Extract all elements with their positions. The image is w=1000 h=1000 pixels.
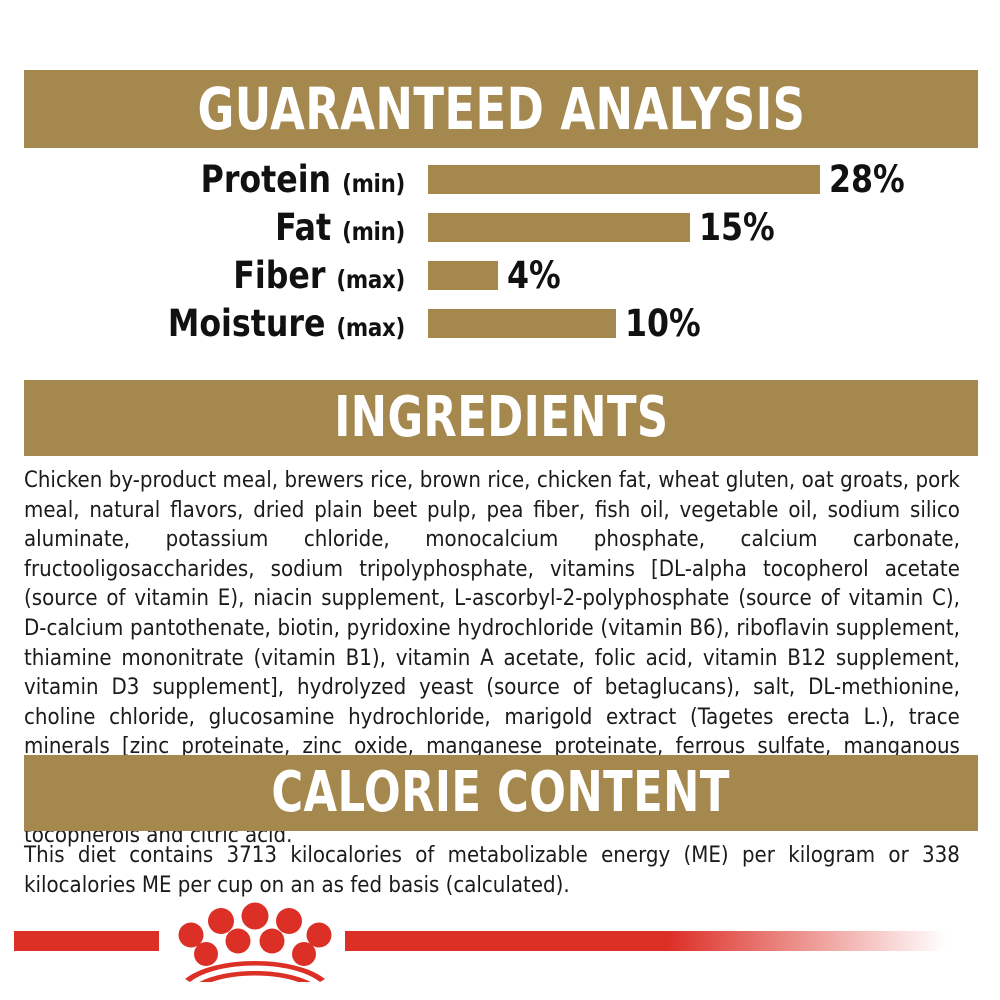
nutrient-qualifier: (min) <box>342 217 405 246</box>
royal-canin-crown-icon <box>160 900 350 982</box>
ingredients-title: INGREDIENTS <box>334 390 668 446</box>
bar-value-fiber: 4% <box>507 257 561 294</box>
ingredients-banner: INGREDIENTS <box>24 380 978 456</box>
nutrient-qualifier: (max) <box>336 265 405 294</box>
bar-wrap-moisture: 10% <box>428 305 705 342</box>
chart-row: Protein (min) 28% <box>0 155 1000 203</box>
bar-value-protein: 28% <box>829 161 905 198</box>
nutrient-label-protein: Protein (min) <box>20 161 405 198</box>
nutrient-label-fiber: Fiber (max) <box>20 257 405 294</box>
bar-wrap-fat: 15% <box>428 209 779 246</box>
nutrient-label-fat: Fat (min) <box>20 209 405 246</box>
guaranteed-analysis-banner: GUARANTEED ANALYSIS <box>24 70 978 148</box>
bar-wrap-fiber: 4% <box>428 257 564 294</box>
nutrient-qualifier: (max) <box>336 313 405 342</box>
footer-rule-right <box>345 931 965 951</box>
guaranteed-analysis-title: GUARANTEED ANALYSIS <box>197 80 805 138</box>
footer-rule-left <box>14 931 159 951</box>
nutrient-name: Fat <box>275 206 331 249</box>
chart-row: Fiber (max) 4% <box>0 251 1000 299</box>
bar-fiber <box>428 261 498 290</box>
guaranteed-analysis-chart: Protein (min) 28% Fat (min) 15% Fiber (m… <box>0 155 1000 365</box>
nutrition-panel-page: GUARANTEED ANALYSIS Protein (min) 28% Fa… <box>0 0 1000 1000</box>
nutrient-name: Protein <box>201 158 331 201</box>
bar-wrap-protein: 28% <box>428 161 909 198</box>
bar-protein <box>428 165 820 194</box>
calorie-content-banner: CALORIE CONTENT <box>24 755 978 831</box>
nutrient-label-moisture: Moisture (max) <box>20 305 405 342</box>
bar-fat <box>428 213 690 242</box>
nutrient-name: Moisture <box>168 302 326 345</box>
nutrient-name: Fiber <box>233 254 325 297</box>
calorie-content-title: CALORIE CONTENT <box>272 765 731 821</box>
footer-brand-bar <box>0 900 1000 1000</box>
bar-value-fat: 15% <box>699 209 775 246</box>
bar-moisture <box>428 309 616 338</box>
calorie-content-body-text: This diet contains 3713 kilocalories of … <box>24 841 960 900</box>
chart-row: Fat (min) 15% <box>0 203 1000 251</box>
chart-row: Moisture (max) 10% <box>0 299 1000 347</box>
nutrient-qualifier: (min) <box>342 169 405 198</box>
bar-value-moisture: 10% <box>625 305 701 342</box>
